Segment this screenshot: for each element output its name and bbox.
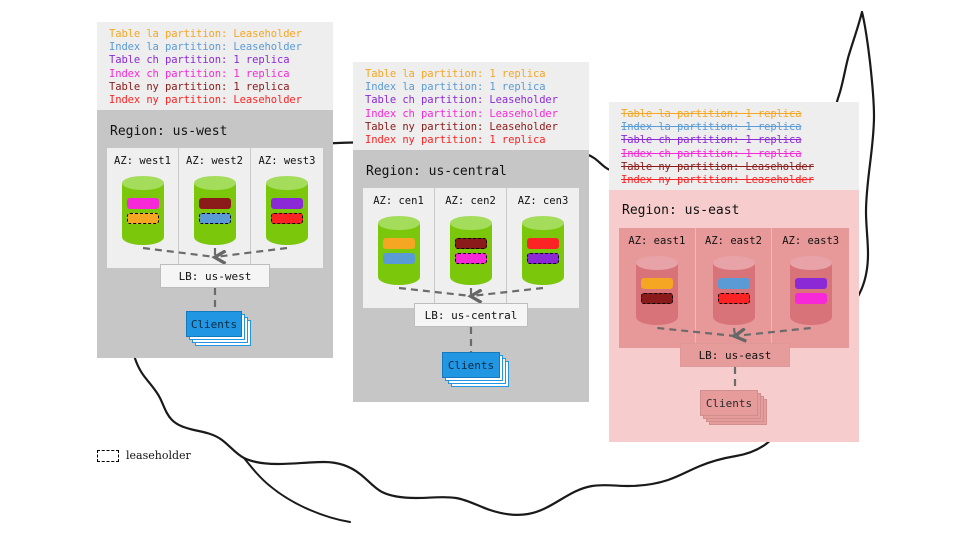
partition-replica-leaseholder [455,238,487,249]
cylinder-top-ellipse [378,216,420,230]
partition-replica-leaseholder [271,213,303,224]
partition-status-line: Table la partition: Leaseholder [109,28,323,41]
az-label: AZ: cen1 [363,195,434,207]
az-label: AZ: cen2 [435,195,506,207]
database-cylinder-icon[interactable] [194,176,236,252]
az-to-lb-connector [143,248,215,257]
partition-replica [795,293,827,304]
partition-replica [271,198,303,209]
az-label: AZ: west3 [251,155,323,167]
partition-replica [383,253,415,264]
az-to-lb-connector [471,288,543,296]
cylinder-top-ellipse [713,256,755,270]
az-label: AZ: east2 [696,235,772,247]
database-cylinder-icon[interactable] [522,216,564,292]
region-title-us-west: Region: us-west [110,124,227,139]
legend-label: leaseholder [126,449,191,462]
partition-status-line: Index ch partition: Leaseholder [365,108,579,121]
partition-status-line: Index ch partition: 1 replica [621,148,849,161]
az-label: AZ: west1 [107,155,178,167]
az-label: AZ: east3 [772,235,849,247]
load-balancer-us-east[interactable]: LB: us-east [680,343,790,367]
cylinder-top-ellipse [122,176,164,190]
partition-status-card-us-east: Table la partition: 1 replicaIndex la pa… [609,102,859,190]
partition-status-line: Table ch partition: 1 replica [621,134,849,147]
partition-replica [641,278,673,289]
partition-status-card-us-west: Table la partition: LeaseholderIndex la … [97,22,333,110]
partition-replica-leaseholder [127,213,159,224]
partition-status-line: Table la partition: 1 replica [365,68,579,81]
region-title-us-east: Region: us-east [622,203,739,218]
az-to-lb-connector [399,288,471,296]
partition-status-line: Index ch partition: 1 replica [109,68,323,81]
partition-replica-leaseholder [527,253,559,264]
az-to-lb-connector [657,328,735,336]
partition-status-line: Index ny partition: Leaseholder [621,174,849,187]
partition-replica [718,278,750,289]
database-cylinder-icon[interactable] [790,256,832,332]
partition-status-line: Table ny partition: 1 replica [109,81,323,94]
partition-status-line: Table ny partition: Leaseholder [621,161,849,174]
partition-status-line: Table ch partition: Leaseholder [365,94,579,107]
partition-status-line: Index la partition: Leaseholder [109,41,323,54]
leaseholder-swatch-icon [97,450,119,462]
load-balancer-us-central[interactable]: LB: us-central [414,303,528,327]
partition-status-line: Index ny partition: Leaseholder [109,94,323,107]
clients-box-us-east[interactable]: Clients [700,390,758,416]
partition-status-line: Table ch partition: 1 replica [109,54,323,67]
database-cylinder-icon[interactable] [713,256,755,332]
partition-replica [199,198,231,209]
cylinder-top-ellipse [194,176,236,190]
database-cylinder-icon[interactable] [636,256,678,332]
az-label: AZ: cen3 [507,195,579,207]
region-title-us-central: Region: us-central [366,164,507,179]
partition-status-line: Index la partition: 1 replica [621,121,849,134]
cylinder-top-ellipse [790,256,832,270]
partition-replica-leaseholder [199,213,231,224]
az-to-lb-connector [215,248,287,257]
partition-replica-leaseholder [641,293,673,304]
load-balancer-us-west[interactable]: LB: us-west [160,264,270,288]
partition-status-card-us-central: Table la partition: 1 replicaIndex la pa… [353,62,589,150]
partition-replica [527,238,559,249]
partition-status-line: Table ny partition: Leaseholder [365,121,579,134]
az-to-lb-connector [734,328,735,336]
az-label: AZ: west2 [179,155,250,167]
clients-stack-us-east[interactable]: Clients [700,390,770,428]
partition-replica [127,198,159,209]
clients-box-us-central[interactable]: Clients [442,352,500,378]
partition-status-line: Index la partition: 1 replica [365,81,579,94]
database-cylinder-icon[interactable] [450,216,492,292]
partition-replica-leaseholder [718,293,750,304]
clients-stack-us-central[interactable]: Clients [442,352,512,390]
az-to-lb-connector [735,328,811,336]
database-cylinder-icon[interactable] [266,176,308,252]
cylinder-top-ellipse [522,216,564,230]
partition-replica [383,238,415,249]
partition-status-line: Table la partition: 1 replica [621,108,849,121]
database-cylinder-icon[interactable] [122,176,164,252]
partition-replica-leaseholder [455,253,487,264]
database-cylinder-icon[interactable] [378,216,420,292]
az-label: AZ: east1 [619,235,695,247]
cylinder-top-ellipse [636,256,678,270]
partition-replica [795,278,827,289]
cylinder-top-ellipse [450,216,492,230]
partition-status-line: Index ny partition: 1 replica [365,134,579,147]
map-detail-path [244,458,350,522]
legend: leaseholder [97,449,191,462]
cylinder-top-ellipse [266,176,308,190]
clients-stack-us-west[interactable]: Clients [186,311,254,349]
clients-box-us-west[interactable]: Clients [186,311,242,337]
